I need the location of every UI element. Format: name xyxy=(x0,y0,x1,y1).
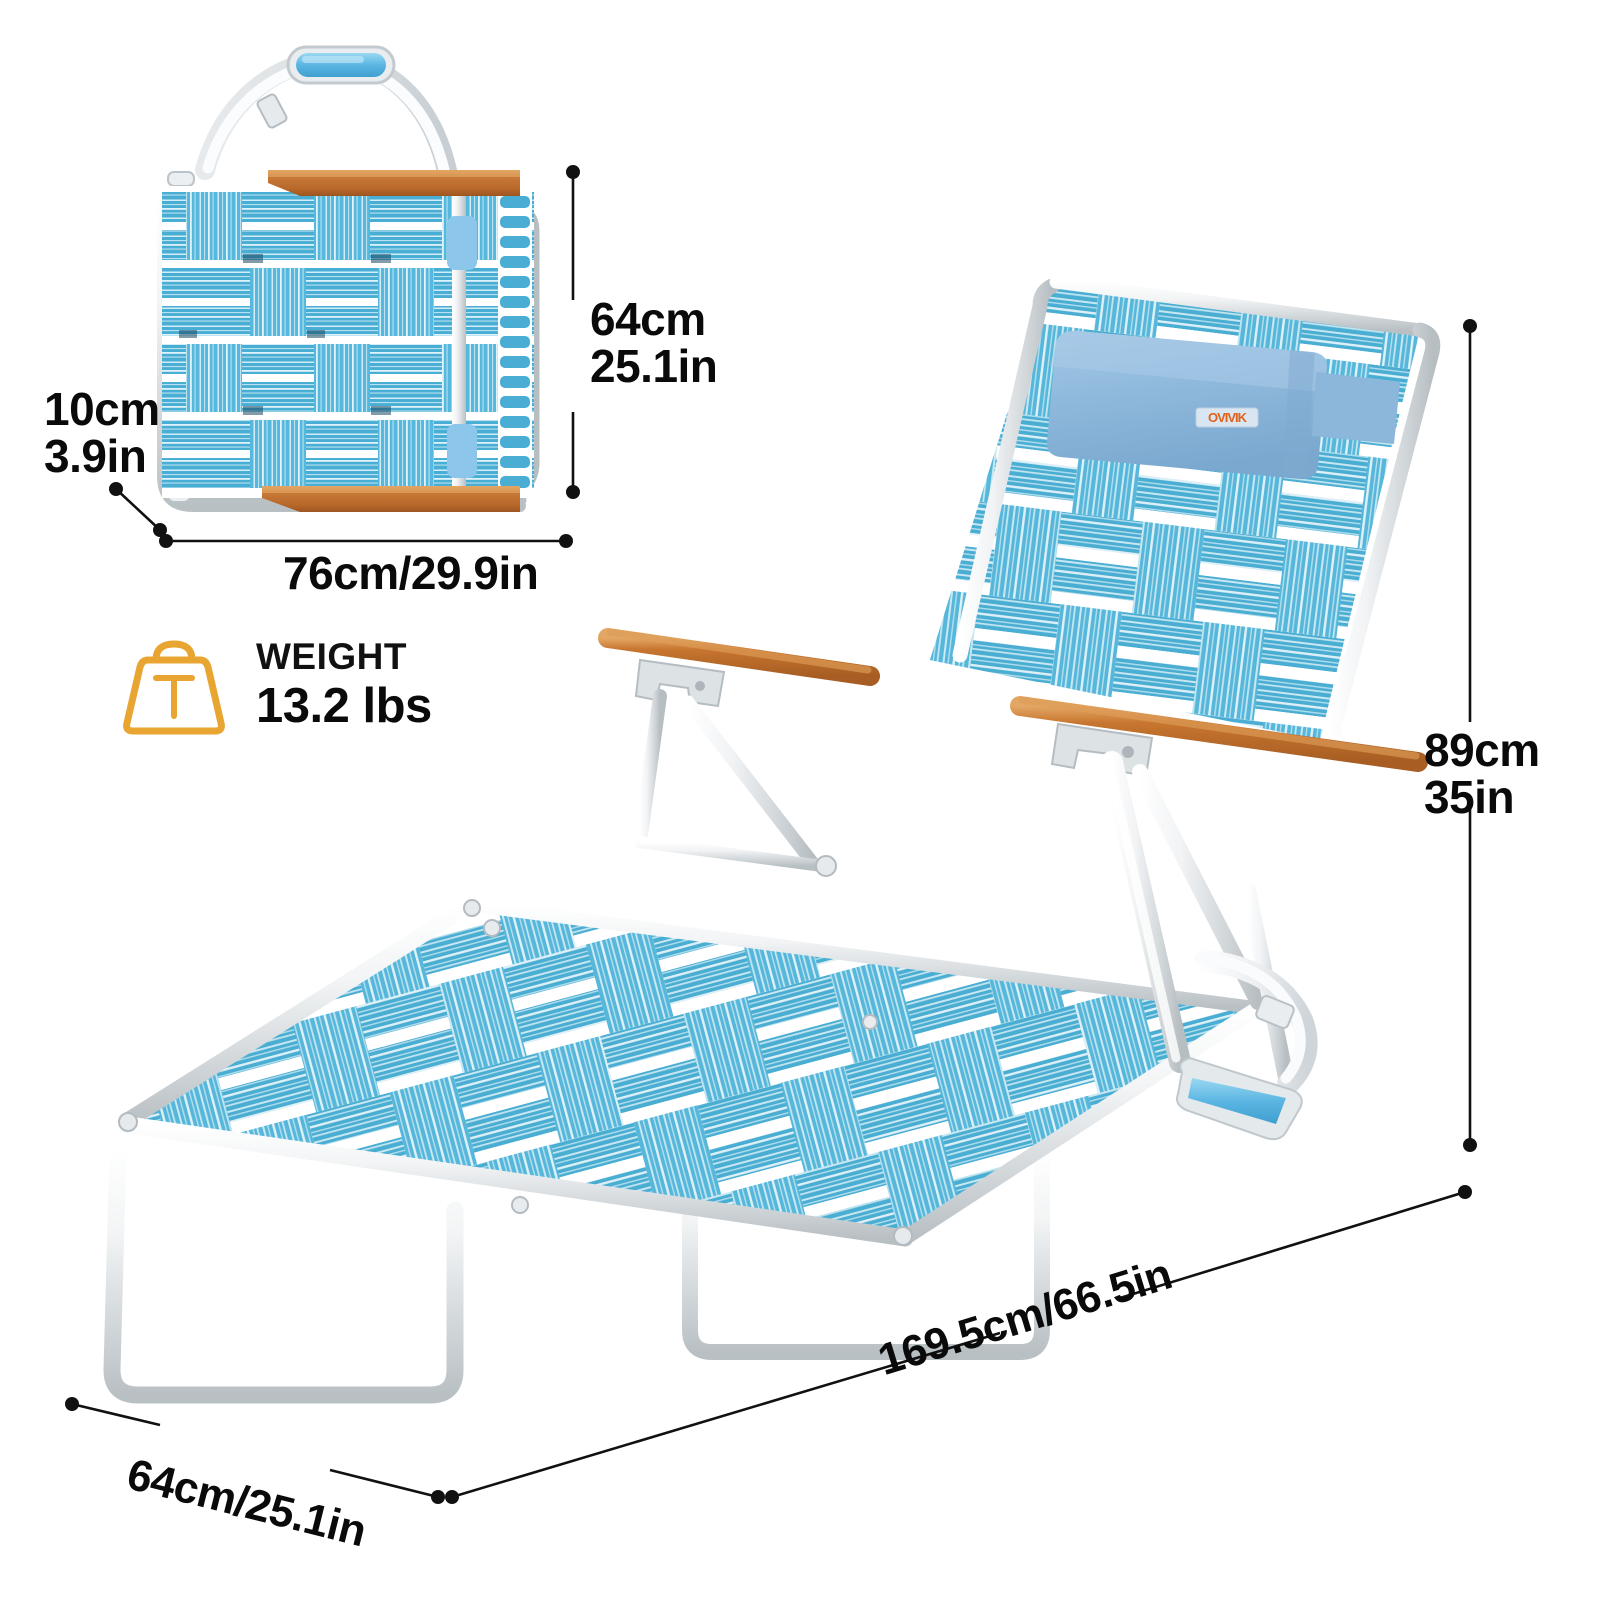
dimension-label-open-length: 169.5cm/66.5in xyxy=(873,1252,1177,1384)
foot-pad xyxy=(1177,1058,1302,1139)
folded-frame xyxy=(163,172,534,506)
weight-icon xyxy=(120,630,228,742)
brand-tag: OVIVIK xyxy=(1196,408,1258,427)
dimension-endpoint-dots xyxy=(65,165,1477,1504)
carry-strap xyxy=(205,47,448,175)
folded-height-cm: 64cm xyxy=(590,296,717,343)
folded-height-in: 25.1in xyxy=(590,343,717,390)
right-armrest xyxy=(1020,700,1418,776)
dimension-label-folded-width: 76cm/29.9in xyxy=(283,550,538,597)
folded-thickness-cm: 10cm xyxy=(44,386,160,433)
folded-chair-illustration xyxy=(0,0,1600,1600)
backrest-webbing xyxy=(869,218,1488,802)
folded-webbing xyxy=(162,186,534,498)
dimension-label-folded-height: 64cm 25.1in xyxy=(590,296,717,390)
left-armrest xyxy=(608,632,870,876)
headrest-pillow: OVIVIK xyxy=(1047,331,1400,479)
svg-text:OVIVIK: OVIVIK xyxy=(1208,410,1248,425)
seat-hinges xyxy=(484,920,877,1213)
dimension-label-folded-thickness: 10cm 3.9in xyxy=(44,386,160,480)
weight-caption: WEIGHT xyxy=(256,637,432,678)
seat-webbing xyxy=(19,665,1404,1484)
open-chaise-illustration: OVIVIK xyxy=(0,0,1600,1600)
folded-center-bar xyxy=(447,186,477,500)
recline-mechanism xyxy=(1108,758,1307,1139)
backrest-frame xyxy=(960,282,1433,742)
folded-wood-armrests xyxy=(262,170,520,512)
weight-value: 13.2 lbs xyxy=(256,678,432,734)
folded-thickness-in: 3.9in xyxy=(44,433,160,480)
seat-frame xyxy=(119,900,1258,1245)
open-height-cm: 89cm xyxy=(1424,727,1540,774)
dimension-label-open-width: 64cm/25.1in xyxy=(123,1453,371,1556)
dimension-label-open-height: 89cm 35in xyxy=(1424,727,1540,821)
weight-block: WEIGHT 13.2 lbs xyxy=(120,630,432,742)
open-height-in: 35in xyxy=(1424,774,1540,821)
dimension-lines xyxy=(0,0,1600,1600)
product-dimension-diagram: OVIVIK xyxy=(0,0,1600,1600)
